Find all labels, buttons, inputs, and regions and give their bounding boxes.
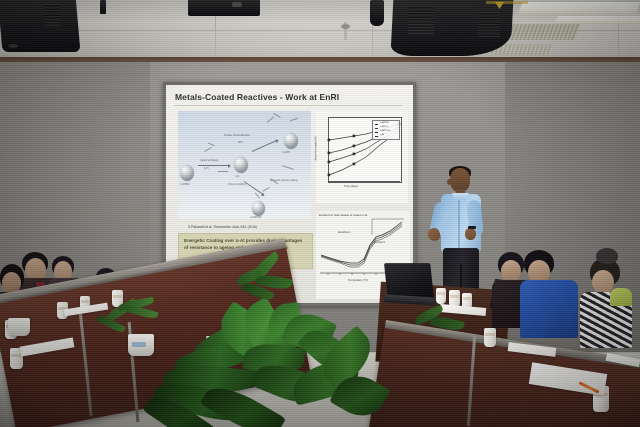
plant-pot bbox=[8, 318, 30, 336]
condition-label: 12 h bbox=[204, 167, 209, 170]
chart-y-label: Active Al content (%) bbox=[314, 137, 317, 161]
legend-entry: n-Al bbox=[380, 134, 384, 136]
conference-room-photo: Metals-Coated Reactives - Work at EnRI n… bbox=[0, 0, 640, 427]
ceiling-light-panel bbox=[517, 2, 640, 15]
device-indicator bbox=[232, 2, 242, 7]
ceiling-fixture bbox=[100, 0, 106, 14]
ceiling-speaker bbox=[478, 12, 500, 38]
ceiling-speaker bbox=[408, 6, 434, 36]
condition-label: 80°C bbox=[238, 141, 243, 144]
ceiling-bracket bbox=[370, 0, 384, 26]
background-plant bbox=[414, 300, 472, 344]
chart-legend: n-Al/PEG n-Al/PS n-Al/PVDF n-Al bbox=[372, 120, 400, 140]
slide-citation: S.Pisharath et al, Thermochim. Acta, 630… bbox=[188, 225, 257, 229]
particle-label: n-Al bbox=[235, 175, 239, 178]
ceiling-speaker bbox=[44, 4, 60, 26]
presenter-ear bbox=[447, 179, 451, 185]
presenter-shirt-placket bbox=[458, 200, 460, 248]
presenter-right-hand bbox=[465, 228, 476, 240]
foreground-plant bbox=[150, 300, 380, 427]
audience-head bbox=[501, 260, 521, 282]
background-plant bbox=[236, 256, 296, 304]
wall-mounted-device bbox=[188, 0, 260, 16]
step-label: Polymer grafting bbox=[228, 183, 245, 186]
legend-entry: n-Al/PEG bbox=[380, 122, 389, 124]
chart-annotation: Exotherm bbox=[374, 241, 385, 244]
particle-label: n-Al/PS bbox=[282, 151, 290, 154]
sprinkler-head bbox=[341, 24, 350, 29]
paper-cup bbox=[484, 328, 496, 347]
hazard-stripe bbox=[486, 1, 528, 4]
legend-entry: n-Al/PVDF bbox=[380, 130, 390, 132]
title-divider bbox=[174, 105, 402, 106]
audience-torso bbox=[520, 280, 578, 338]
pot-label bbox=[132, 342, 146, 347]
chart-x-label: Temperature (°C) bbox=[348, 279, 368, 282]
audience-hair bbox=[596, 248, 618, 264]
chart-x-label: Time (days) bbox=[344, 185, 358, 188]
ageing-resistance-chart: n-Al/PEG n-Al/PS n-Al/PVDF n-Al Time (da… bbox=[316, 111, 408, 203]
particle-label: n-Al/PEG bbox=[180, 183, 190, 186]
slide-title: Metals-Coated Reactives - Work at EnRI bbox=[175, 92, 339, 102]
presenter-wristwatch bbox=[468, 226, 476, 229]
step-label: Surface functionalization bbox=[224, 134, 250, 137]
laptop-screen bbox=[384, 263, 434, 299]
step-label: Ligand exchange bbox=[200, 159, 218, 162]
reaction-scheme-diagram: n-Al/PEG n-Al n-Al/PS n-Al/PVDF Ligand e… bbox=[178, 111, 311, 219]
ceiling-light-panel bbox=[554, 16, 640, 24]
legend-entry: n-Al/PS bbox=[380, 126, 387, 128]
audience-shoulder-bag bbox=[610, 288, 632, 306]
chart-annotation: Endotherm bbox=[338, 231, 351, 234]
projector-lens bbox=[8, 44, 18, 48]
particle-label: n-Al/PVDF bbox=[250, 216, 261, 219]
